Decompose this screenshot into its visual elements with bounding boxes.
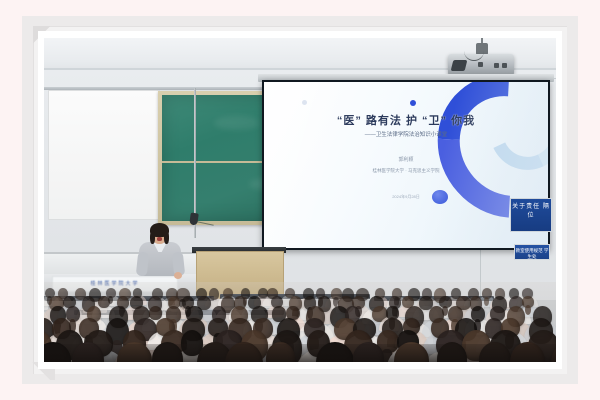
- slide-dot-large: [410, 100, 416, 106]
- audience-member-ponytail: [484, 297, 489, 306]
- projected-slide: “医” 路有法 护 “卫” 你我 ——卫生法律学院法治知识小课堂 郭利颖 桂林医…: [264, 82, 548, 248]
- lecturer-hand: [174, 272, 182, 279]
- slide-subtitle: ——卫生法律学院法治知识小课堂: [264, 130, 548, 138]
- lecturer-hair-side-left: [150, 231, 155, 244]
- photo-stage: “医” 路有法 护 “卫” 你我 ——卫生法律学院法治知识小课堂 郭利颖 桂林医…: [0, 0, 600, 400]
- audience-member-ponytail: [525, 305, 531, 315]
- slide-date: 2024年9月28日: [264, 194, 548, 200]
- wall-sign-primary: 关于责任 隔位: [510, 198, 552, 232]
- lecturer-mouth: [157, 237, 162, 241]
- foreground-shadow: [44, 344, 556, 362]
- wall-sign-secondary: 教室使用规范 学生处: [514, 244, 550, 260]
- slide-dot-small: [302, 100, 307, 105]
- audience-member-head: [149, 306, 163, 320]
- audience-member-head: [209, 288, 219, 300]
- whiteboard-panel: [48, 90, 160, 220]
- slide-title: “医” 路有法 护 “卫” 你我: [264, 112, 548, 128]
- slide-presenter-name: 郭利颖: [264, 156, 548, 163]
- lecturer-hair-side-right: [164, 231, 169, 244]
- audience-description: Students seated in rows viewed from behi…: [44, 282, 45, 283]
- audience-member-head: [98, 296, 110, 308]
- slide-affiliation: 桂林医学院大学 · 马克思主义学院: [264, 168, 548, 174]
- lecture-hall-photograph: “医” 路有法 护 “卫” 你我 ——卫生法律学院法治知识小课堂 郭利颖 桂林医…: [44, 38, 556, 362]
- projector-lens: [451, 60, 468, 71]
